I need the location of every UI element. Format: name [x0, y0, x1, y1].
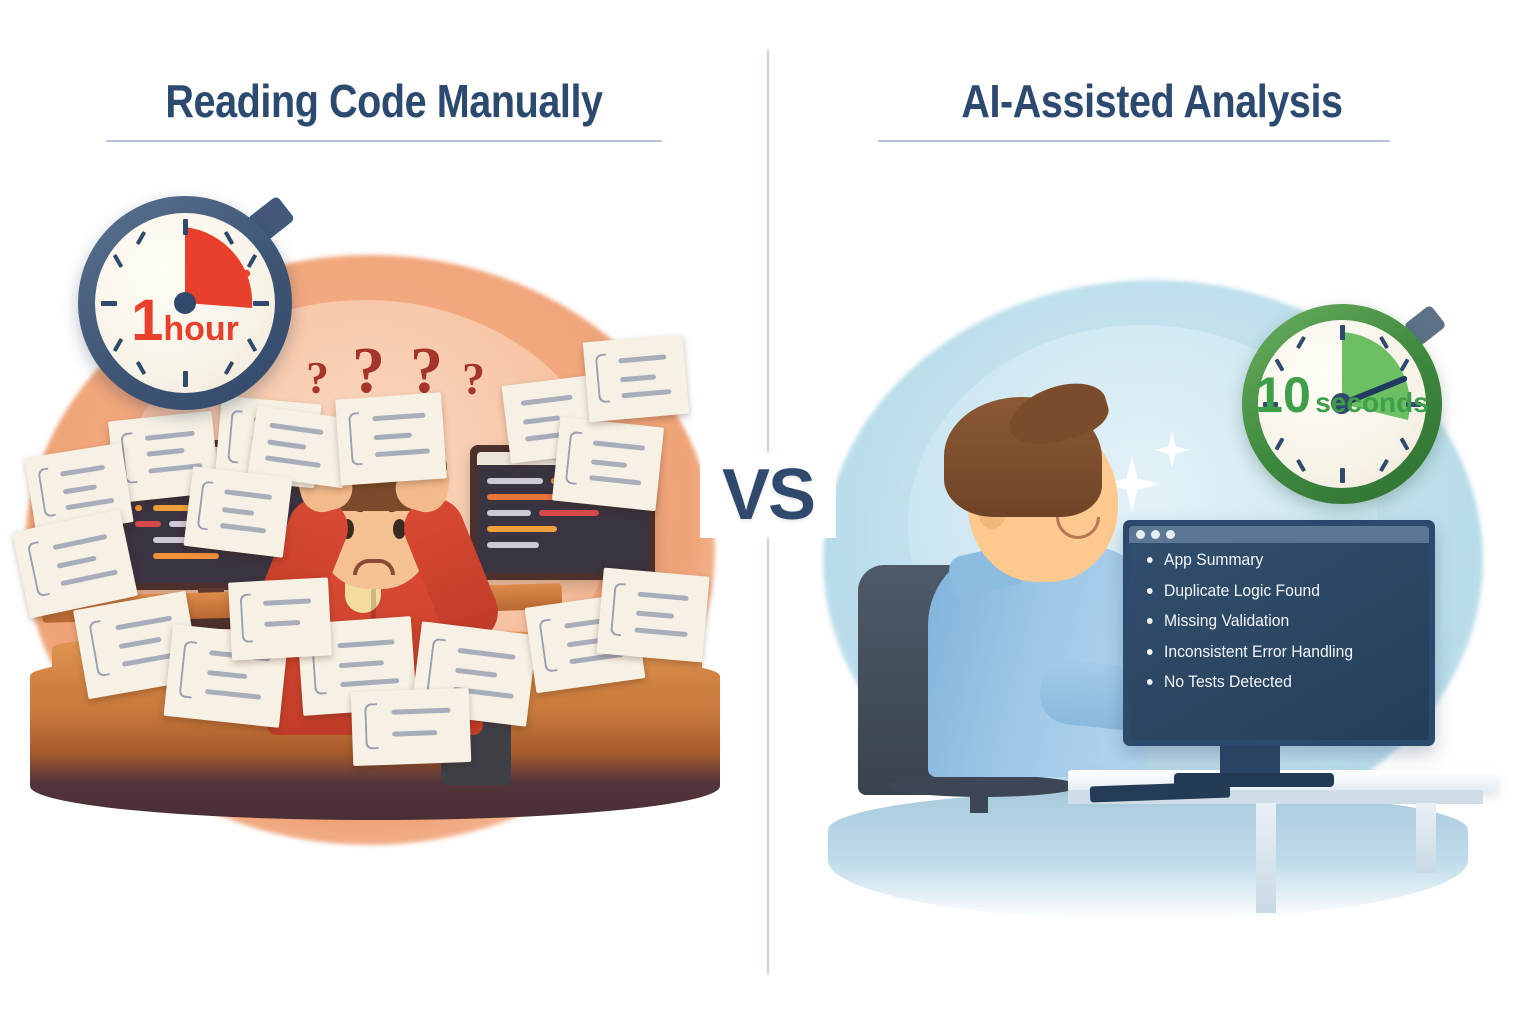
- ai-analysis-screen: App Summary Duplicate Logic Found Missin…: [1129, 526, 1429, 740]
- left-person-frown: [353, 559, 395, 575]
- stopwatch-left-value: 1: [131, 292, 163, 350]
- list-item[interactable]: No Tests Detected: [1145, 674, 1415, 691]
- window-dot-2[interactable]: [1151, 530, 1160, 539]
- window-dot-1[interactable]: [1136, 530, 1145, 539]
- right-desk-leg: [1256, 803, 1276, 913]
- code-paper: [552, 417, 664, 511]
- comparison-infographic: Reading Code Manually AI-Assisted Analys…: [0, 0, 1536, 1024]
- right-monitor-base: [1174, 773, 1334, 787]
- left-title-rule: [106, 140, 662, 142]
- stopwatch-right-label: 10 seconds: [1242, 370, 1442, 420]
- code-paper: [228, 577, 332, 660]
- stopwatch-left-unit: hour: [163, 312, 239, 346]
- vs-label: VS: [700, 452, 836, 538]
- stopwatch-right-value: 10: [1255, 370, 1311, 420]
- code-paper: [335, 392, 447, 485]
- right-desk-leg: [1416, 803, 1436, 873]
- right-floor-shadow: [828, 790, 1468, 920]
- list-item[interactable]: Missing Validation: [1145, 613, 1415, 630]
- code-paper: [596, 568, 709, 663]
- right-title-rule: [878, 140, 1390, 142]
- right-panel-title: AI-Assisted Analysis: [822, 74, 1482, 128]
- list-item[interactable]: App Summary: [1145, 552, 1415, 569]
- left-panel-title: Reading Code Manually: [54, 74, 714, 128]
- list-item[interactable]: Duplicate Logic Found: [1145, 583, 1415, 600]
- right-scene: App Summary Duplicate Logic Found Missin…: [768, 160, 1536, 1000]
- ai-analysis-monitor: App Summary Duplicate Logic Found Missin…: [1123, 520, 1435, 746]
- window-titlebar: [1129, 526, 1429, 543]
- code-paper: [183, 466, 292, 558]
- ai-findings-list: App Summary Duplicate Logic Found Missin…: [1129, 543, 1429, 691]
- stopwatch-left-label: 1hour: [78, 292, 292, 350]
- right-chair-post: [970, 773, 988, 813]
- stopwatch-one-hour: 1hour: [78, 196, 292, 410]
- code-paper: [583, 334, 690, 422]
- list-item[interactable]: Inconsistent Error Handling: [1145, 644, 1415, 661]
- window-dot-3[interactable]: [1166, 530, 1175, 539]
- stopwatch-right-unit: seconds: [1315, 389, 1429, 417]
- stopwatch-ten-seconds: 10 seconds: [1242, 304, 1442, 504]
- code-paper: [351, 688, 472, 766]
